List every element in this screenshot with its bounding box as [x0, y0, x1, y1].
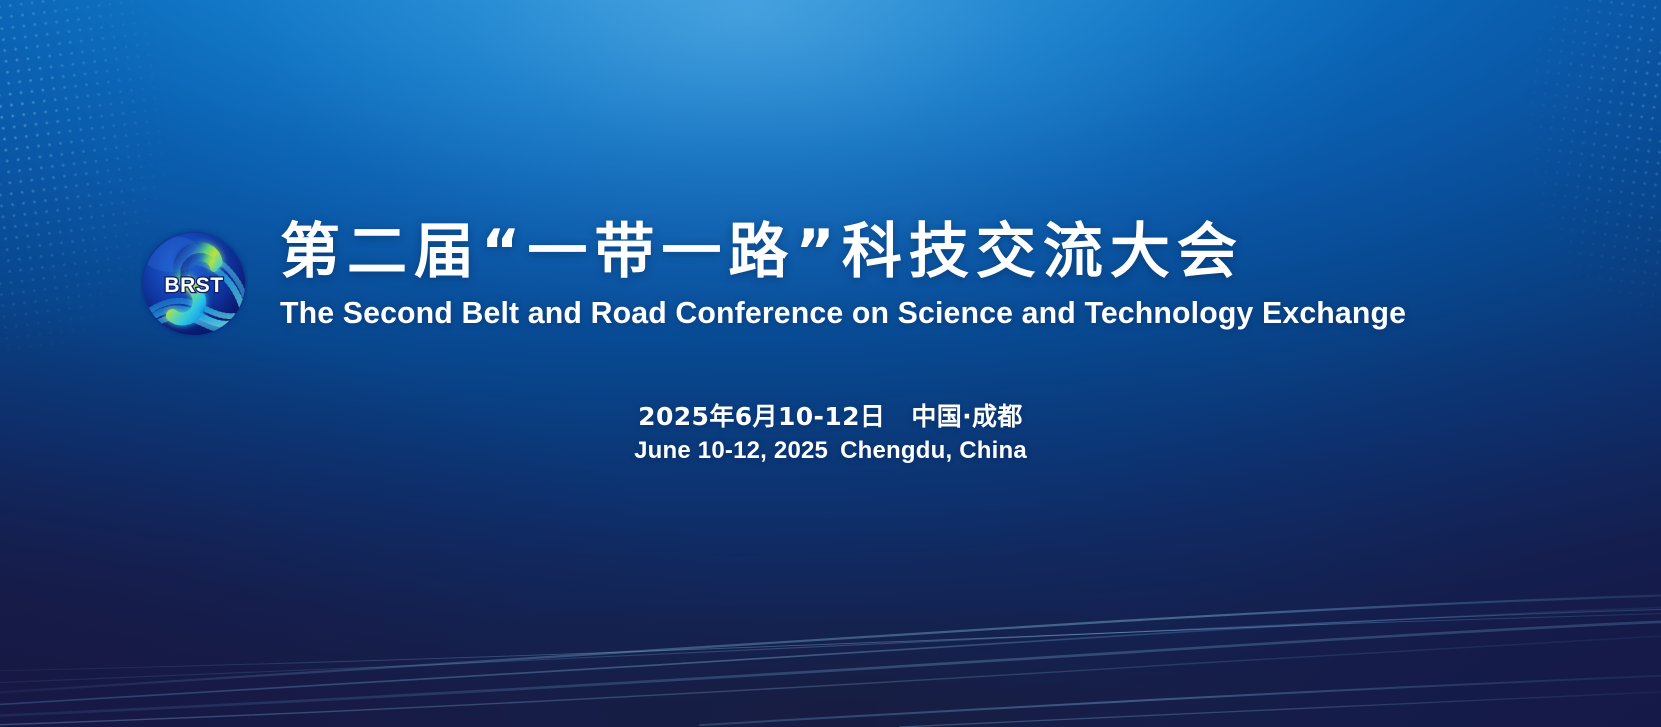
banner-content: BRST 第二届“一带一路”科技交流大会 The Second Belt and… [0, 0, 1661, 727]
event-location-en: Chengdu, China [840, 437, 1027, 464]
event-date-cn: 2025年6月10-12日 [638, 402, 885, 431]
title-row: BRST 第二届“一带一路”科技交流大会 The Second Belt and… [0, 222, 1661, 340]
event-details: 2025年6月10-12日中国·成都 June 10-12, 2025Cheng… [0, 400, 1661, 468]
page-subtitle: The Second Belt and Road Conference on S… [276, 298, 1511, 329]
page-title: 第二届“一带一路”科技交流大会 [276, 222, 1521, 282]
brst-logo-icon: BRST [140, 228, 248, 340]
event-location-cn: 中国·成都 [911, 402, 1023, 431]
event-date-location-cn: 2025年6月10-12日中国·成都 [0, 400, 1661, 434]
title-block: 第二届“一带一路”科技交流大会 The Second Belt and Road… [276, 222, 1521, 329]
event-date-location-en: June 10-12, 2025Chengdu, China [0, 434, 1661, 468]
avatar: BRST [140, 228, 248, 340]
event-date-en: June 10-12, 2025 [634, 437, 828, 464]
conference-banner: BRST 第二届“一带一路”科技交流大会 The Second Belt and… [0, 0, 1661, 727]
logo-acronym: BRST [164, 274, 223, 297]
